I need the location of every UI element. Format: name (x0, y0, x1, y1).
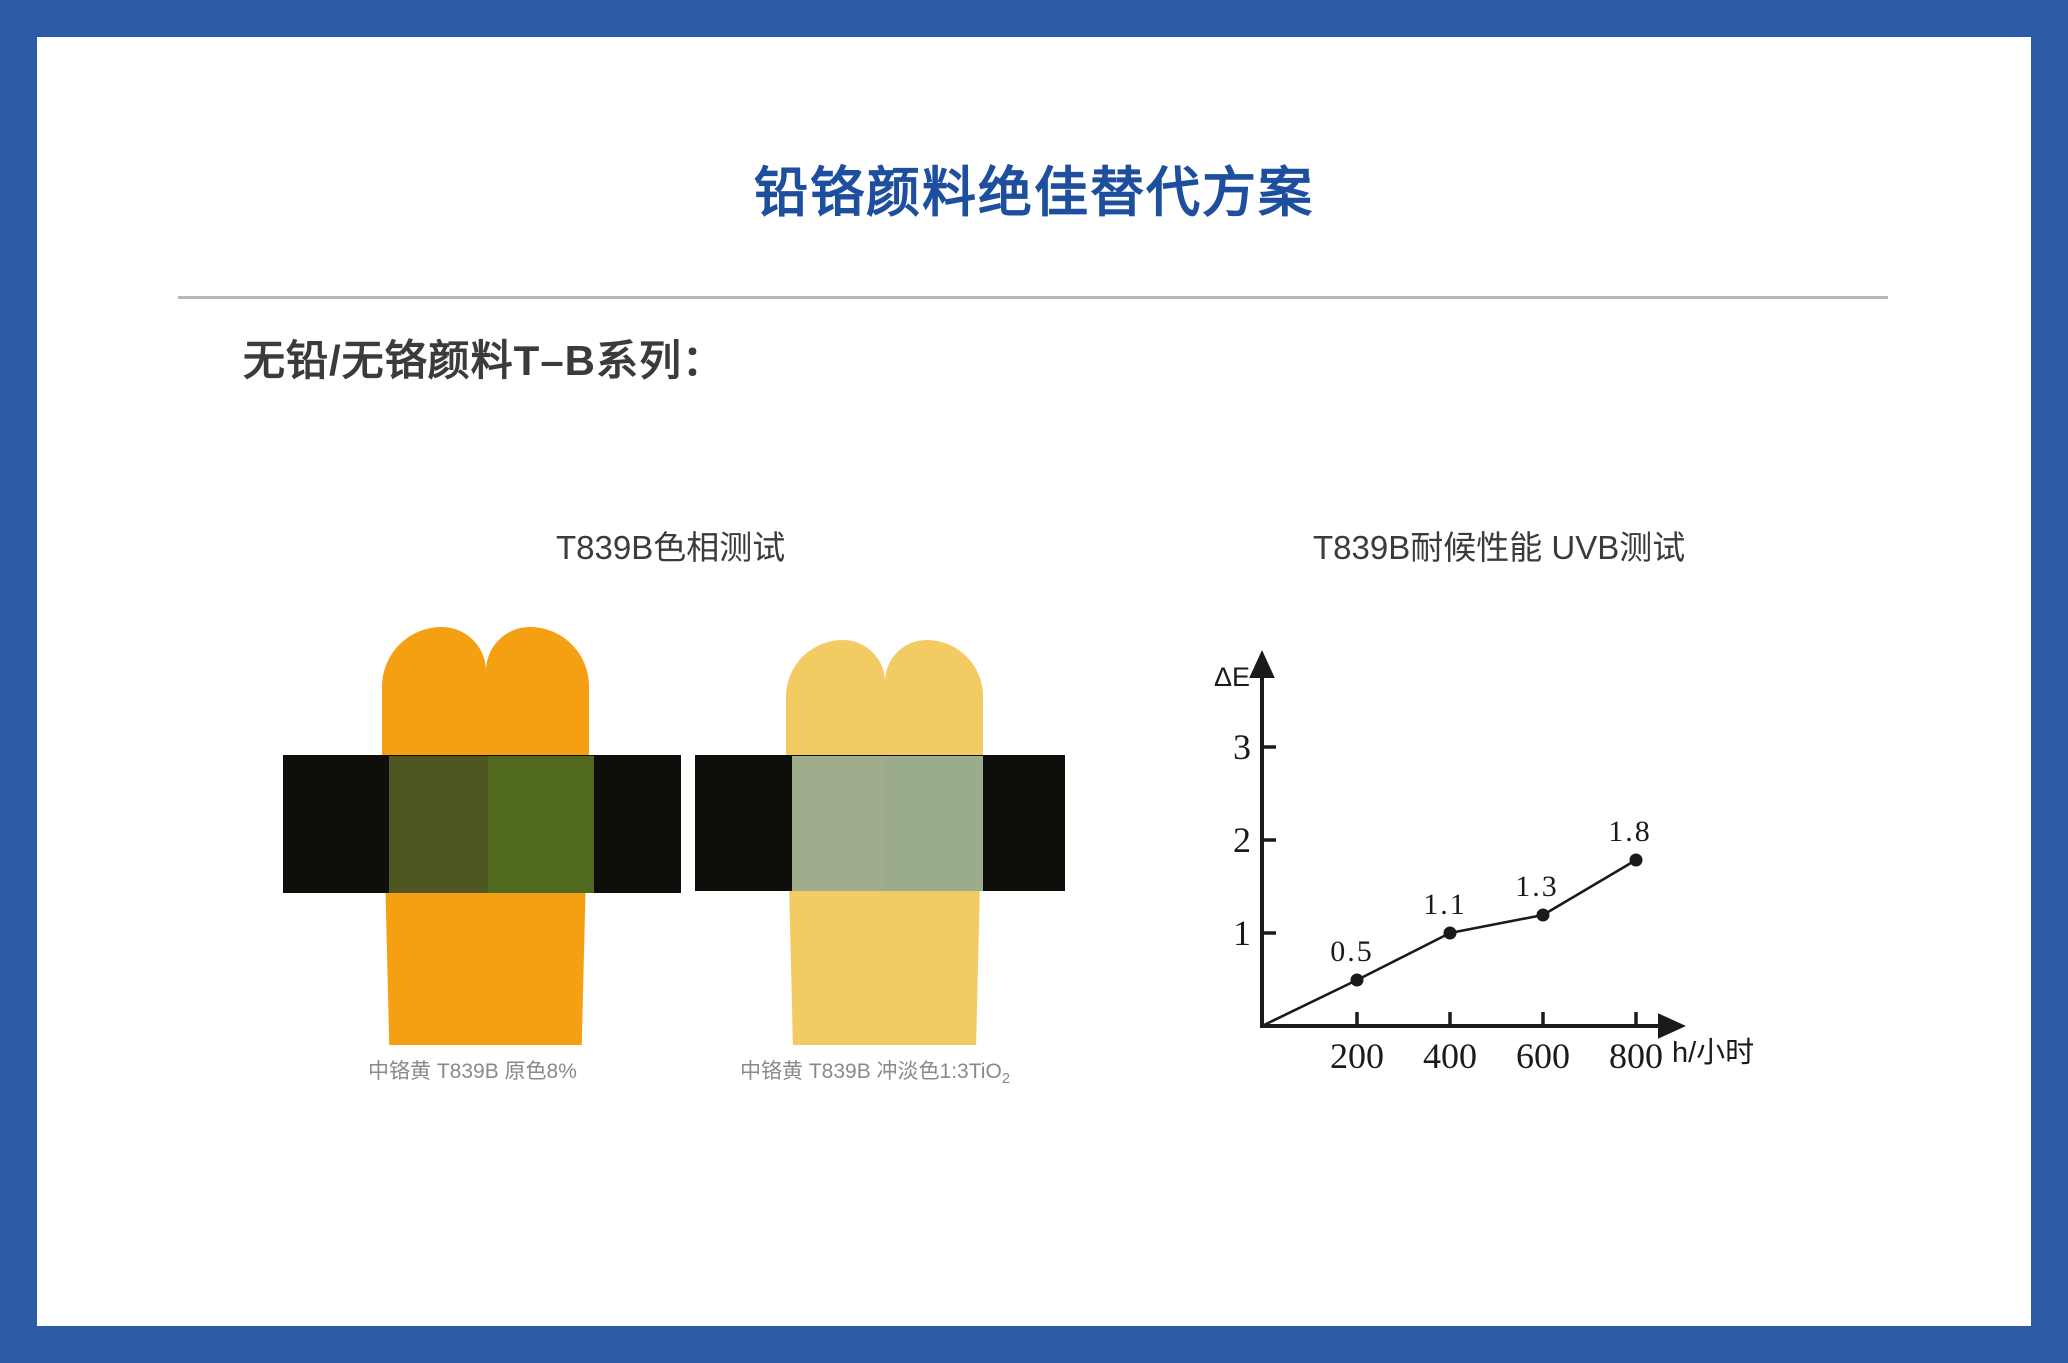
drawdown-card-masstone (382, 627, 589, 1045)
frame-border-bottom (0, 1326, 2068, 1363)
page-title: 铅铬颜料绝佳替代方案 (0, 148, 2068, 227)
caption-subscript: 2 (1002, 1070, 1010, 1087)
data-point-800 (1630, 854, 1643, 867)
data-line-series (1262, 860, 1636, 1026)
y-tick-label-3: 3 (1233, 727, 1251, 767)
card-tongue-right (885, 640, 984, 820)
data-label-600: 1.3 (1515, 870, 1559, 903)
section-subtitle: 无铅/无铬颜料T–B系列： (243, 327, 725, 388)
data-point-400 (1444, 927, 1457, 940)
header-divider (178, 296, 1888, 299)
card-tongue-left (786, 640, 885, 820)
band-overlay-tint-right (884, 756, 983, 891)
drawdown-card-tint (786, 640, 983, 1045)
data-point-600 (1537, 909, 1550, 922)
band-overlay-masstone-left (389, 756, 488, 893)
data-point-200 (1351, 974, 1364, 987)
swatch-caption-tint: 中铬黄 T839B 冲淡色1:3TiO2 (740, 1055, 1010, 1087)
y-tick-label-1: 1 (1233, 913, 1251, 953)
card-body (786, 760, 983, 1045)
black-contrast-band-right (695, 755, 1065, 891)
slide-root: 铅铬颜料绝佳替代方案 无铅/无铬颜料T–B系列： T839B色相测试 T839B… (0, 0, 2068, 1363)
x-tick-label-400: 400 (1423, 1036, 1477, 1076)
caption-text: 中铬黄 T839B 原色8% (368, 1060, 577, 1083)
x-tick-label-600: 600 (1516, 1036, 1570, 1076)
card-body (382, 747, 589, 1045)
x-tick-label-200: 200 (1330, 1036, 1384, 1076)
card-tongue-right (486, 627, 590, 807)
black-contrast-band-left (283, 755, 681, 893)
card-tongue-left (382, 627, 486, 807)
frame-border-top (0, 0, 2068, 37)
panel-heading-weathering: T839B耐候性能 UVB测试 (1313, 521, 1685, 569)
y-axis-label: ΔE (1214, 662, 1250, 692)
band-overlay-tint-left (792, 756, 884, 891)
caption-text: 中铬黄 T839B 冲淡色1:3TiO (740, 1060, 1002, 1083)
y-tick-label-2: 2 (1233, 820, 1251, 860)
weathering-line-chart: ΔE h/小时 1 2 3 200 400 600 800 0.5 1.1 1.… (1180, 620, 1800, 1080)
data-label-200: 0.5 (1330, 935, 1374, 968)
band-overlay-masstone-right (488, 756, 594, 893)
panel-heading-hue-test: T839B色相测试 (556, 521, 785, 569)
data-label-400: 1.1 (1423, 888, 1467, 921)
x-tick-label-800: 800 (1609, 1036, 1663, 1076)
swatch-caption-masstone: 中铬黄 T839B 原色8% (368, 1055, 577, 1085)
data-label-800: 1.8 (1608, 815, 1652, 848)
x-axis-label: h/小时 (1672, 1036, 1754, 1069)
